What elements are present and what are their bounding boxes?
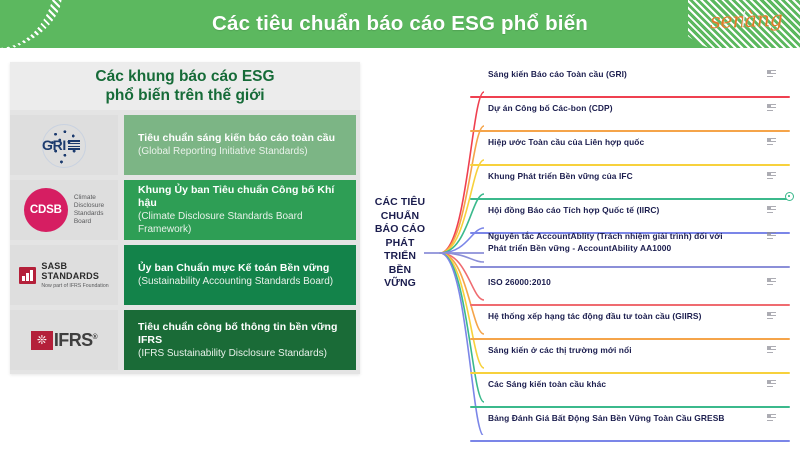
list-item-underline <box>470 372 790 374</box>
list-item-label: Dự án Công bố Các-bon (CDP) <box>488 103 613 115</box>
list-item-label: Sáng kiến Báo cáo Toàn cầu (GRI) <box>488 69 627 81</box>
left-card-title: Các khung báo cáo ESG phổ biến trên thế … <box>10 62 360 110</box>
list-item-underline <box>470 304 790 306</box>
framework-name-vi: Tiêu chuẩn công bố thông tin bền vững IF… <box>138 321 356 347</box>
cdsb-logo: CDSB ClimateDisclosureStandardsBoard <box>24 188 104 232</box>
document-lines-icon <box>767 278 776 287</box>
document-lines-icon <box>767 346 776 355</box>
sasb-logo-cell: SASB STANDARDS Now part of IFRS Foundati… <box>10 245 118 305</box>
document-lines-icon <box>767 206 776 215</box>
list-item[interactable]: Sáng kiến Báo cáo Toàn cầu (GRI) <box>470 69 790 98</box>
left-card-title-line1: Các khung báo cáo ESG <box>95 67 274 86</box>
list-item-underline <box>470 96 790 98</box>
list-item[interactable]: Hiệp ước Toàn cầu của Liên hợp quốc <box>470 137 790 166</box>
page-header: Các tiêu chuẩn báo cáo ESG phổ biến sen/… <box>0 0 800 48</box>
framework-row-ifrs[interactable]: ❊ IFRS® Tiêu chuẩn công bố thông tin bền… <box>10 310 360 370</box>
list-item-row: Dự án Công bố Các-bon (CDP) <box>470 103 790 130</box>
framework-text-cdsb: Khung Ủy ban Tiêu chuẩn Công bố Khí hậu … <box>124 180 356 240</box>
framework-name-vi: Tiêu chuẩn sáng kiến báo cáo toàn cầu <box>138 132 356 145</box>
list-item-row: Bảng Đánh Giá Bất Động Sản Bền Vững Toàn… <box>470 413 790 440</box>
list-item-label: ISO 26000:2010 <box>488 277 551 289</box>
list-item-row: Sáng kiến Báo cáo Toàn cầu (GRI) <box>470 69 790 96</box>
list-item-row: Hội đồng Báo cáo Tích hợp Quốc tế (IIRC) <box>470 205 790 232</box>
registered-icon: ® <box>93 334 98 341</box>
sasb-logo-text: SASB <box>41 261 108 271</box>
list-item-label: Hội đồng Báo cáo Tích hợp Quốc tế (IIRC) <box>488 205 659 217</box>
framework-name-en: (IFRS Sustainability Disclosure Standard… <box>138 347 356 360</box>
list-item-row: Khung Phát triển Bền vững của IFC <box>470 171 790 198</box>
document-lines-icon <box>767 232 776 241</box>
framework-row-gri[interactable]: GRI Tiêu chuẩn sáng kiến báo cáo toàn cầ… <box>10 115 360 175</box>
gri-logo: GRI <box>34 124 94 166</box>
framework-text-sasb: Ủy ban Chuẩn mực Kế toán Bền vững (Susta… <box>124 245 356 305</box>
list-item-row: Các Sáng kiến toàn cầu khác <box>470 379 790 406</box>
page-title: Các tiêu chuẩn báo cáo ESG phổ biến <box>0 0 800 48</box>
flower-icon: ❊ <box>31 331 53 350</box>
sasb-logo: SASB STANDARDS Now part of IFRS Foundati… <box>19 261 108 290</box>
bar-chart-icon <box>19 267 36 284</box>
list-item-row: Hệ thống xếp hạng tác động đầu tư toàn c… <box>470 311 790 338</box>
gri-lines-icon <box>68 140 80 149</box>
framework-text-ifrs: Tiêu chuẩn công bố thông tin bền vững IF… <box>124 310 356 370</box>
framework-name-vi: Khung Ủy ban Tiêu chuẩn Công bố Khí hậu <box>138 184 356 210</box>
brand-logo-part2: àng <box>744 7 783 32</box>
list-item-label: Sáng kiến ở các thị trường mới nổi <box>488 345 632 357</box>
framework-text-gri: Tiêu chuẩn sáng kiến báo cáo toàn cầu (G… <box>124 115 356 175</box>
list-item-row: Sáng kiến ở các thị trường mới nổi <box>470 345 790 372</box>
document-lines-icon <box>767 380 776 389</box>
list-item[interactable]: ISO 26000:2010 <box>470 277 790 306</box>
list-item-node-marker[interactable] <box>785 192 794 201</box>
cdsb-logo-subtitle: ClimateDisclosureStandardsBoard <box>74 194 104 226</box>
list-item[interactable]: Các Sáng kiến toàn cầu khác <box>470 379 790 408</box>
document-lines-icon <box>767 312 776 321</box>
brand-logo: sen/àng <box>709 7 782 34</box>
list-item[interactable]: Hội đồng Báo cáo Tích hợp Quốc tế (IIRC) <box>470 205 790 234</box>
list-item-underline <box>470 198 790 200</box>
list-item[interactable]: Dự án Công bố Các-bon (CDP) <box>470 103 790 132</box>
cdsb-logo-cell: CDSB ClimateDisclosureStandardsBoard <box>10 180 118 240</box>
document-lines-icon <box>767 104 776 113</box>
gri-logo-text: GRI <box>42 137 66 153</box>
list-item-underline <box>470 266 790 268</box>
framework-row-cdsb[interactable]: CDSB ClimateDisclosureStandardsBoard Khu… <box>10 180 360 240</box>
list-item-underline <box>470 440 790 442</box>
list-item-label: Hệ thống xếp hạng tác động đầu tư toàn c… <box>488 311 701 323</box>
cdsb-logo-text: CDSB <box>24 188 68 232</box>
list-item-label: Nguyên tắc AccountAblity (Trách nhiệm gi… <box>488 231 740 254</box>
ifrs-logo-cell: ❊ IFRS® <box>10 310 118 370</box>
list-item-label: Các Sáng kiến toàn cầu khác <box>488 379 606 391</box>
standards-list: Sáng kiến Báo cáo Toàn cầu (GRI)Dự án Cô… <box>470 55 790 435</box>
gri-logo-cell: GRI <box>10 115 118 175</box>
list-item-label: Bảng Đánh Giá Bất Động Sản Bền Vững Toàn… <box>488 413 725 425</box>
framework-name-vi: Ủy ban Chuẩn mực Kế toán Bền vững <box>138 262 356 275</box>
list-item[interactable]: Khung Phát triển Bền vững của IFC <box>470 171 790 200</box>
list-item-underline <box>470 130 790 132</box>
esg-frameworks-card: Các khung báo cáo ESG phổ biến trên thế … <box>10 62 360 374</box>
framework-name-en: (Sustainability Accounting Standards Boa… <box>138 275 356 288</box>
document-lines-icon <box>767 70 776 79</box>
list-item-underline <box>470 406 790 408</box>
sasb-logo-text2: STANDARDS <box>41 271 108 281</box>
list-item-row: Nguyên tắc AccountAblity (Trách nhiệm gi… <box>470 231 790 266</box>
sasb-logo-subtitle: Now part of IFRS Foundation <box>41 282 108 290</box>
list-item[interactable]: Hệ thống xếp hạng tác động đầu tư toàn c… <box>470 311 790 340</box>
document-lines-icon <box>767 138 776 147</box>
document-lines-icon <box>767 414 776 423</box>
ifrs-logo-text: IFRS <box>54 330 93 350</box>
list-item[interactable]: Nguyên tắc AccountAblity (Trách nhiệm gi… <box>470 231 790 268</box>
list-item-label: Khung Phát triển Bền vững của IFC <box>488 171 633 183</box>
document-lines-icon <box>767 172 776 181</box>
list-item-underline <box>470 164 790 166</box>
list-item-underline <box>470 338 790 340</box>
list-item-row: ISO 26000:2010 <box>470 277 790 304</box>
list-item[interactable]: Sáng kiến ở các thị trường mới nổi <box>470 345 790 374</box>
list-item-label: Hiệp ước Toàn cầu của Liên hợp quốc <box>488 137 644 149</box>
list-item-row: Hiệp ước Toàn cầu của Liên hợp quốc <box>470 137 790 164</box>
left-card-title-line2: phổ biến trên thế giới <box>105 86 264 105</box>
ifrs-logo: ❊ IFRS® <box>31 330 97 351</box>
framework-name-en: (Global Reporting Initiative Standards) <box>138 145 356 158</box>
framework-row-sasb[interactable]: SASB STANDARDS Now part of IFRS Foundati… <box>10 245 360 305</box>
framework-name-en: (Climate Disclosure Standards Board Fram… <box>138 210 356 236</box>
list-item[interactable]: Bảng Đánh Giá Bất Động Sản Bền Vững Toàn… <box>470 413 790 442</box>
